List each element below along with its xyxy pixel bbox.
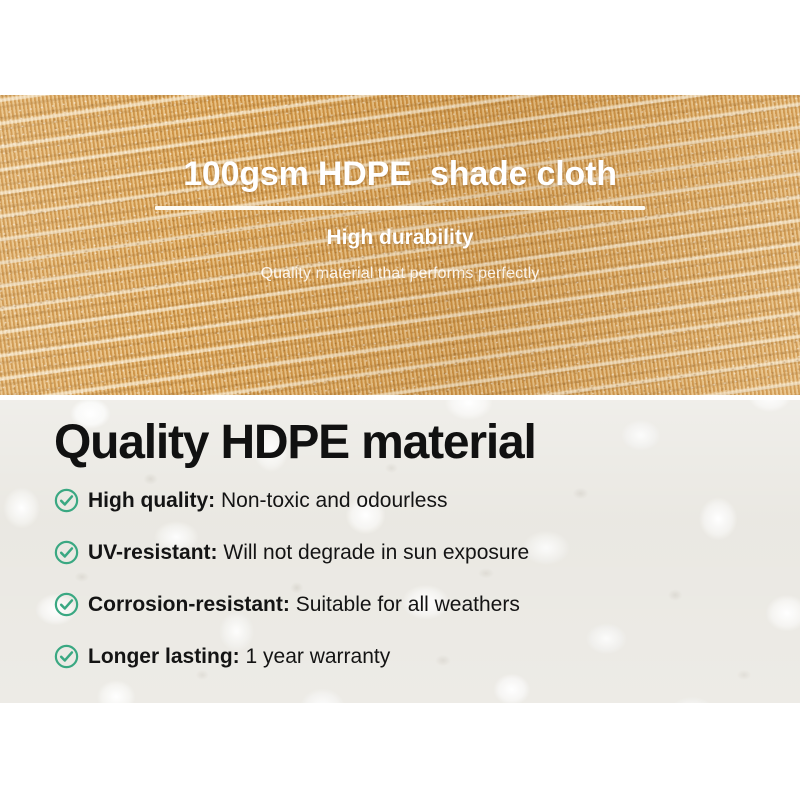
- feature-item: High quality: Non-toxic and odourless: [54, 475, 800, 527]
- feature-label: UV-resistant:: [88, 541, 218, 564]
- feature-item: UV-resistant: Will not degrade in sun ex…: [54, 527, 800, 579]
- feature-item: Corrosion-resistant: Suitable for all we…: [54, 579, 800, 631]
- feature-label: High quality:: [88, 489, 215, 512]
- check-circle-icon: [54, 488, 79, 513]
- banner-divider: [155, 206, 645, 210]
- feature-text: UV-resistant: Will not degrade in sun ex…: [88, 542, 529, 563]
- hdpe-material-section: Quality HDPE material High quality: Non-…: [0, 400, 800, 703]
- banner-text-block: 100gsm HDPE shade cloth High durability …: [0, 95, 800, 395]
- material-text-block: Quality HDPE material High quality: Non-…: [0, 400, 800, 703]
- feature-text: Longer lasting: 1 year warranty: [88, 646, 390, 667]
- banner-subtitle: High durability: [327, 227, 474, 248]
- material-title: Quality HDPE material: [54, 418, 800, 469]
- feature-label: Longer lasting:: [88, 645, 240, 668]
- product-infographic: 100gsm HDPE shade cloth High durability …: [0, 0, 800, 800]
- feature-text: High quality: Non-toxic and odourless: [88, 490, 447, 511]
- feature-list: High quality: Non-toxic and odourlessUV-…: [54, 475, 800, 683]
- feature-description: Will not degrade in sun exposure: [218, 541, 530, 564]
- banner-tagline: Quality material that performs perfectly: [261, 266, 540, 282]
- feature-item: Longer lasting: 1 year warranty: [54, 631, 800, 683]
- feature-description: 1 year warranty: [240, 645, 391, 668]
- check-circle-icon: [54, 540, 79, 565]
- feature-label: Corrosion-resistant:: [88, 593, 290, 616]
- feature-description: Suitable for all weathers: [290, 593, 520, 616]
- shade-cloth-banner: 100gsm HDPE shade cloth High durability …: [0, 95, 800, 395]
- feature-description: Non-toxic and odourless: [215, 489, 447, 512]
- check-circle-icon: [54, 644, 79, 669]
- feature-text: Corrosion-resistant: Suitable for all we…: [88, 594, 520, 615]
- banner-title: 100gsm HDPE shade cloth: [183, 157, 617, 191]
- check-circle-icon: [54, 592, 79, 617]
